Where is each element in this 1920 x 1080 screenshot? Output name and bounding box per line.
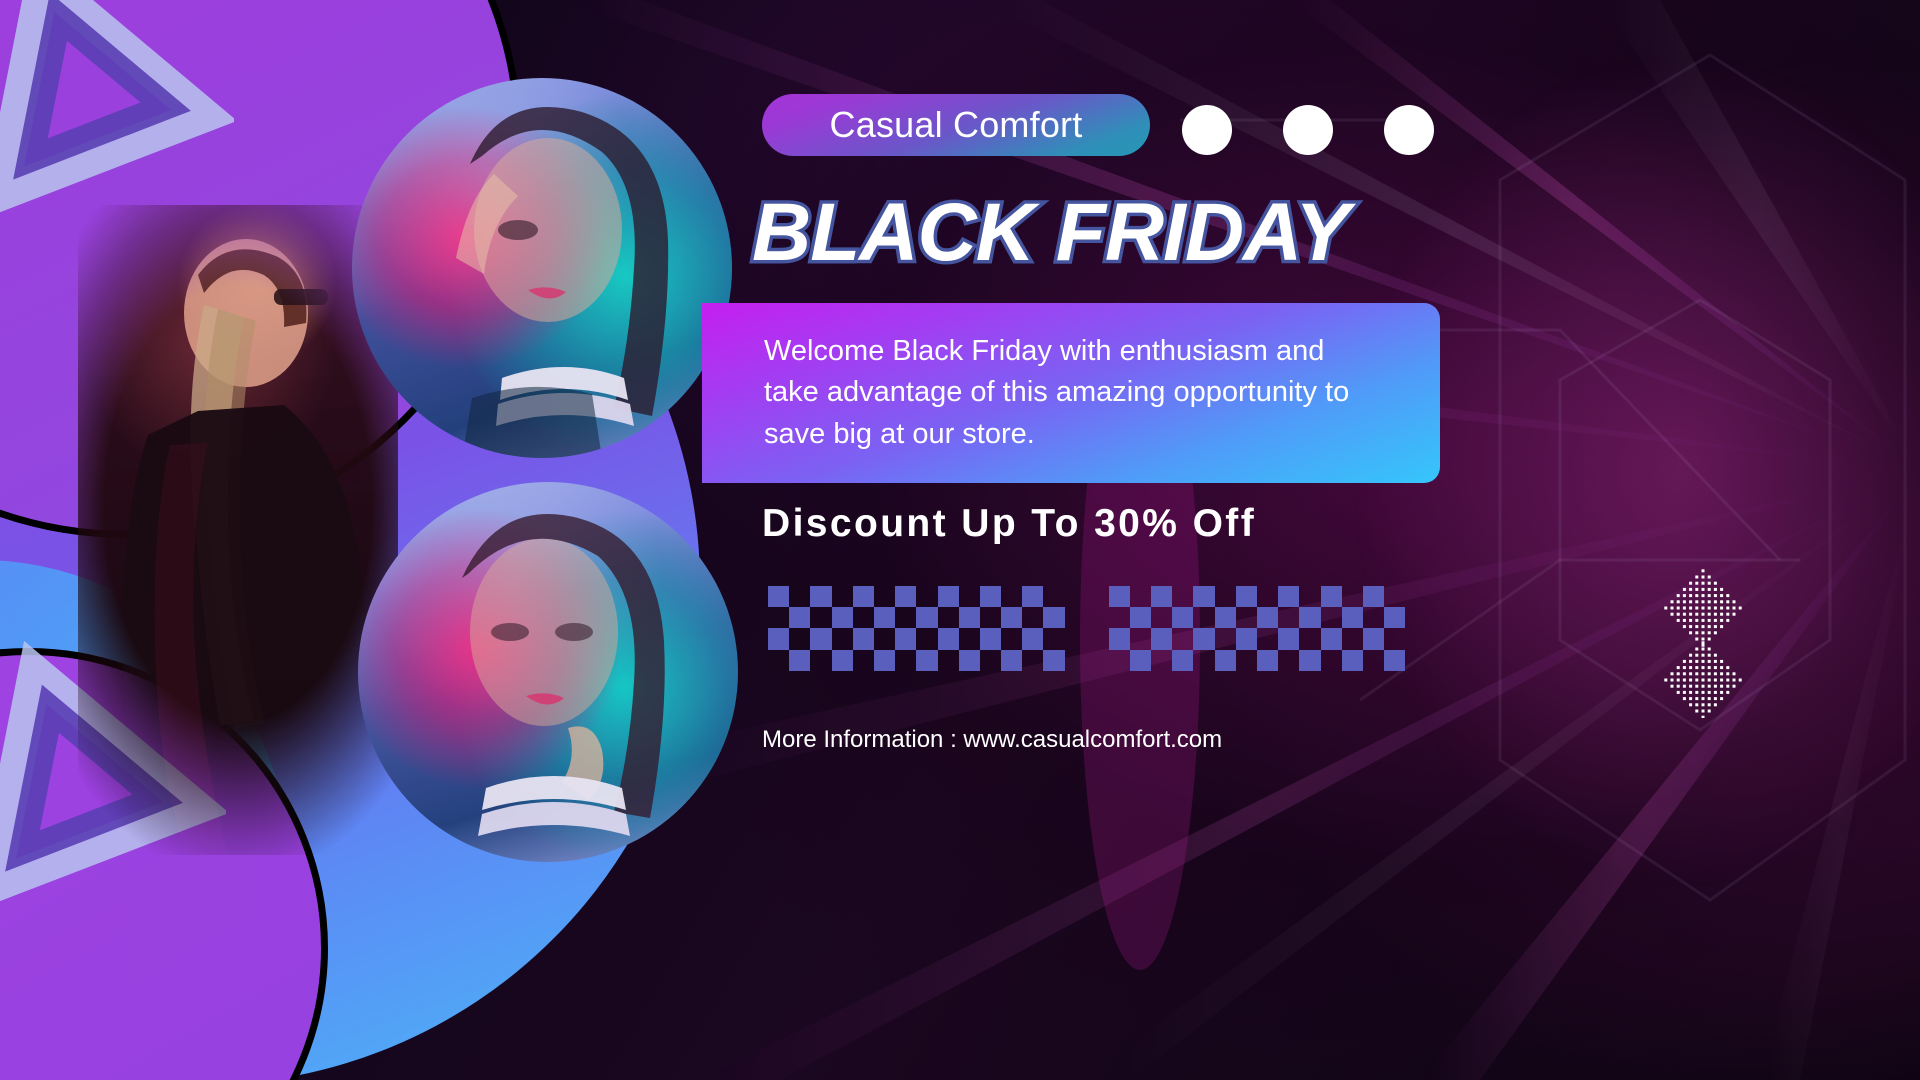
model-photo-top <box>352 78 732 458</box>
decorative-dots-row <box>1182 105 1434 155</box>
model-photo-bottom <box>358 482 738 862</box>
dotted-diamond-decoration <box>1648 568 1758 718</box>
checkerboard-decoration <box>768 586 1405 671</box>
model-photo-hoodie <box>78 205 398 855</box>
brand-name: Casual Comfort <box>830 104 1083 146</box>
discount-headline: Discount Up To 30% Off <box>762 502 1256 546</box>
headline-black-friday: BLACK FRIDAY <box>752 186 1349 280</box>
black-friday-promo-banner: Casual Comfort BLACK FRIDAY Welcome Blac… <box>0 0 1920 1080</box>
promo-description-text: Welcome Black Friday with enthusiasm and… <box>764 331 1364 455</box>
checkerboard-block-1 <box>768 586 1065 671</box>
footer-more-information: More Information : www.casualcomfort.com <box>762 726 1222 754</box>
brand-badge[interactable]: Casual Comfort <box>762 94 1150 156</box>
checkerboard-block-2 <box>1109 586 1406 671</box>
decorative-dot-2 <box>1283 105 1333 155</box>
promo-description-panel: Welcome Black Friday with enthusiasm and… <box>702 303 1440 483</box>
decorative-dot-3 <box>1384 105 1434 155</box>
decorative-dot-1 <box>1182 105 1232 155</box>
